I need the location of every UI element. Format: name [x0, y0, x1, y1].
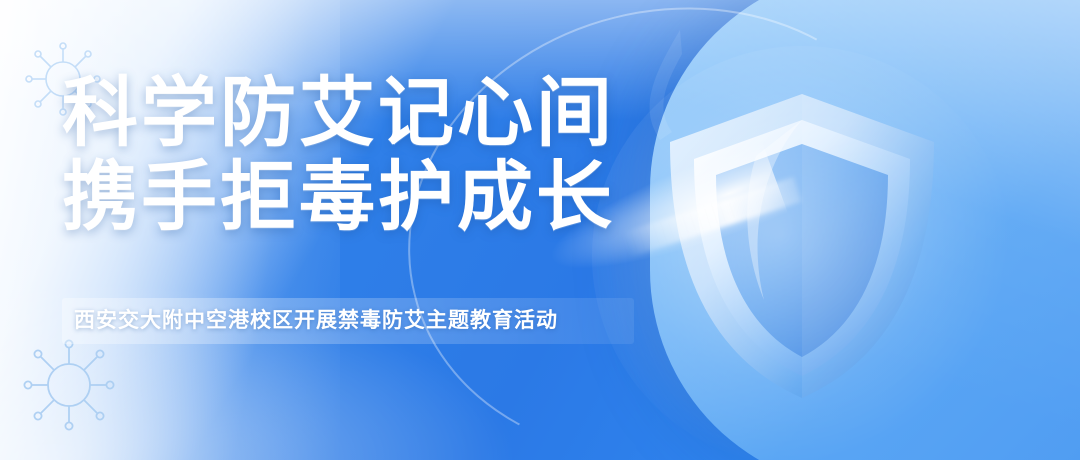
- subtitle: 西安交大附中空港校区开展禁毒防艾主题教育活动: [74, 305, 634, 337]
- headline-line-1: 科学防艾记心间: [62, 72, 662, 156]
- shield-emblem: [652, 86, 952, 406]
- awareness-banner: 科学防艾记心间 携手拒毒护成长 西安交大附中空港校区开展禁毒防艾主题教育活动: [0, 0, 1080, 460]
- headline-line-2: 携手拒毒护成长: [62, 156, 662, 240]
- shield-icon: [652, 86, 952, 406]
- headline-block: 科学防艾记心间 携手拒毒护成长: [62, 72, 662, 240]
